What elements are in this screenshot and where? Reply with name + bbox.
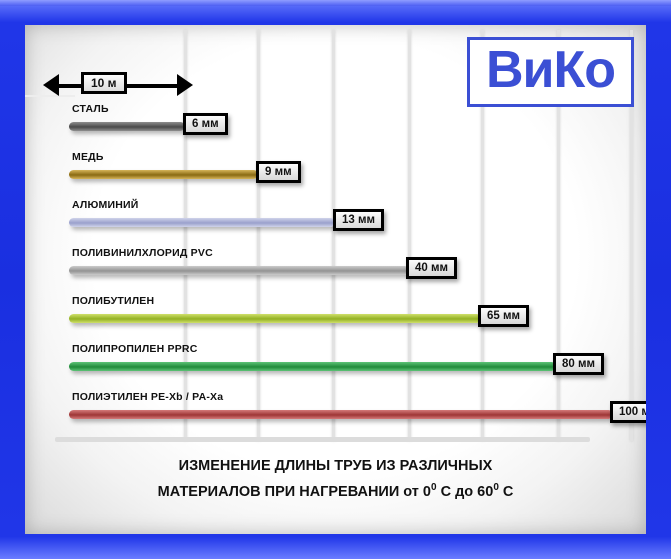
arrow-right-icon [177,74,193,96]
bar [69,218,335,227]
bar-value-label: 40 мм [406,257,457,279]
poster-frame: 10 м СТАЛЬ6 ммМЕДЬ9 ммАЛЮМИНИЙ13 ммПОЛИВ… [0,0,671,559]
bar-label: ПОЛИПРОПИЛЕН PPRC [72,343,197,355]
caption-line-1: ИЗМЕНЕНИЕ ДЛИНЫ ТРУБ ИЗ РАЗЛИЧНЫХ [25,455,646,477]
brand-logo: ВиКо [467,37,634,107]
caption-line-2-main: МАТЕРИАЛОВ ПРИ НАГРЕВАНИИ [158,484,400,500]
bar [69,170,258,179]
scale-label: 10 м [81,72,127,94]
bar-value-label: 100 мм [610,401,646,423]
bar [69,362,556,371]
bar-label: СТАЛЬ [72,103,109,115]
chart-caption: ИЗМЕНЕНИЕ ДЛИНЫ ТРУБ ИЗ РАЗЛИЧНЫХ МАТЕРИ… [25,455,646,503]
bar-label: ПОЛИБУТИЛЕН [72,295,154,307]
bar-label: АЛЮМИНИЙ [72,199,138,211]
chart-baseline [55,437,590,442]
caption-temp-end: С [499,484,514,500]
chart-row: АЛЮМИНИЙ13 мм [25,199,646,245]
bar [69,314,481,323]
poster-canvas: 10 м СТАЛЬ6 ммМЕДЬ9 ммАЛЮМИНИЙ13 ммПОЛИВ… [25,25,646,534]
brand-logo-text: ВиКо [486,41,615,99]
bar-value-label: 65 мм [478,305,529,327]
caption-line-2: МАТЕРИАЛОВ ПРИ НАГРЕВАНИИ от 00 С до 600… [25,477,646,503]
bar-label: ПОЛИЭТИЛЕН PE-Xb / PA-Xa [72,391,223,403]
bar [69,410,613,419]
chart-row: СТАЛЬ6 мм [25,103,646,149]
chart-row: ПОЛИВИНИЛХЛОРИД PVC40 мм [25,247,646,293]
bar-value-label: 6 мм [183,113,228,135]
chart-row: ПОЛИБУТИЛЕН65 мм [25,295,646,341]
scale-indicator: 10 м [43,73,193,97]
chart-row: МЕДЬ9 мм [25,151,646,197]
bar [69,122,185,131]
bar-value-label: 80 мм [553,353,604,375]
bar-label: МЕДЬ [72,151,104,163]
caption-temp-mid: С до 60 [437,484,494,500]
bar-value-label: 9 мм [256,161,301,183]
bar [69,266,409,275]
chart-row: ПОЛИЭТИЛЕН PE-Xb / PA-Xa100 мм [25,391,646,437]
bar-value-label: 13 мм [333,209,384,231]
chart-row: ПОЛИПРОПИЛЕН PPRC80 мм [25,343,646,389]
caption-temp-from: от 0 [403,484,431,500]
bar-label: ПОЛИВИНИЛХЛОРИД PVC [72,247,213,259]
